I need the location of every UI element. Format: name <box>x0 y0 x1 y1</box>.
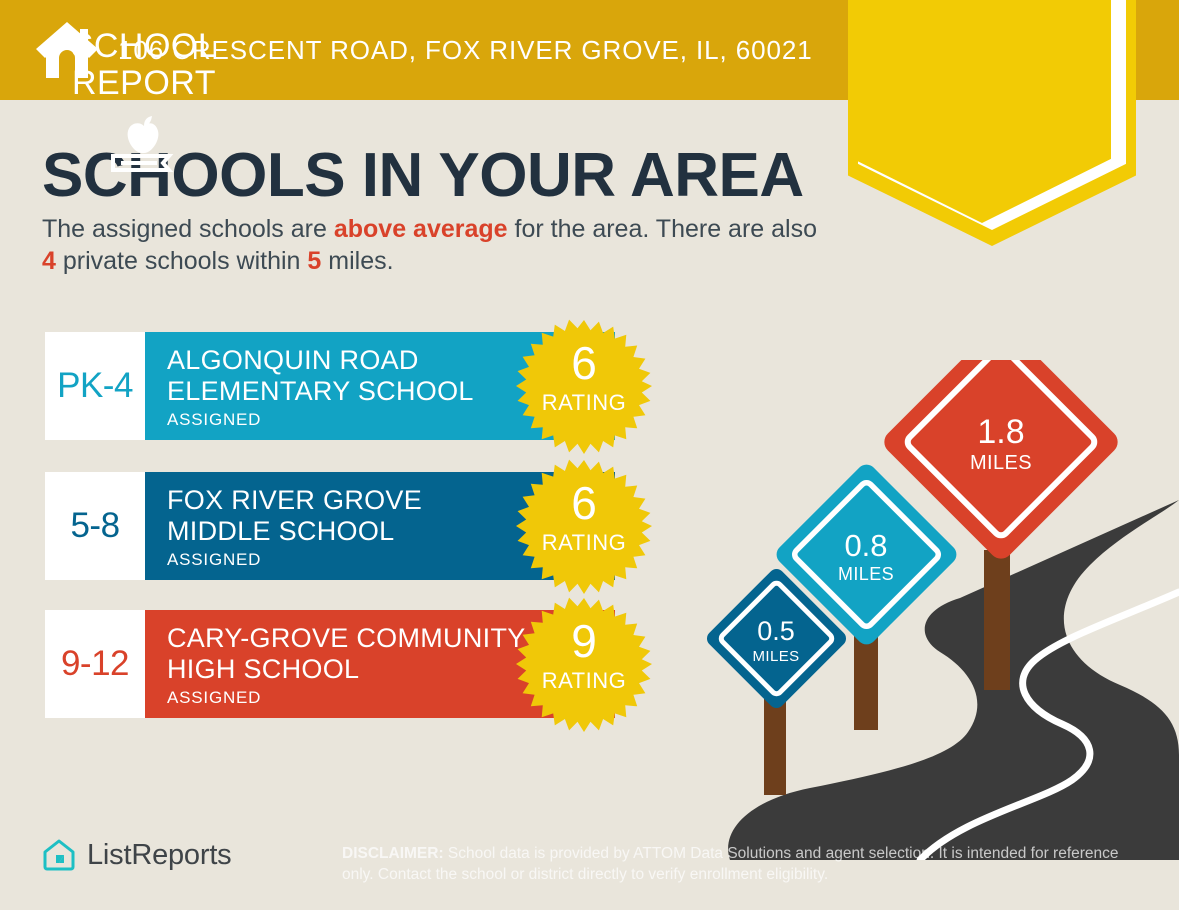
page-subtitle: The assigned schools are above average f… <box>42 213 832 277</box>
apple-on-book-icon <box>0 108 288 189</box>
distance-value: 1.8 <box>931 415 1071 449</box>
grade-range-box: 9-12 <box>45 610 145 718</box>
distance-sign-label: 1.8 MILES <box>931 415 1071 473</box>
rating-badge: 9 RATING <box>516 596 652 732</box>
subtitle-text-2: for the area. There are also <box>508 215 817 243</box>
grade-range-label: 5-8 <box>70 506 119 546</box>
rating-value: 6 <box>516 480 652 526</box>
subtitle-highlight-rating: above average <box>334 215 508 243</box>
grade-range-label: 9-12 <box>61 644 129 684</box>
rating-caption: RATING <box>516 668 652 694</box>
subtitle-highlight-private-count: 4 <box>42 247 56 275</box>
school-report-badge <box>848 0 1136 246</box>
subtitle-text-1: The assigned schools are <box>42 215 334 243</box>
subtitle-text-4: miles. <box>321 247 393 275</box>
rating-value: 6 <box>516 340 652 386</box>
distance-unit: MILES <box>726 649 826 664</box>
disclaimer-label: DISCLAIMER: <box>342 845 444 862</box>
road-illustration: 1.8 MILES 0.8 MILES 0.5 MILES <box>690 360 1179 860</box>
distance-value: 0.5 <box>726 618 826 645</box>
distance-unit: MILES <box>806 565 926 583</box>
rating-badge: 6 RATING <box>516 458 652 594</box>
distance-sign-label: 0.5 MILES <box>726 618 826 664</box>
grade-range-label: PK-4 <box>57 366 133 406</box>
badge-label: SCHOOL REPORT <box>0 28 288 102</box>
listreports-wordmark: ListReports <box>87 839 231 872</box>
badge-label-line2: REPORT <box>0 65 288 102</box>
school-report-infographic: 106 CRESCENT ROAD, FOX RIVER GROVE, IL, … <box>0 0 1179 910</box>
rating-badge: 6 RATING <box>516 318 652 454</box>
grade-range-box: PK-4 <box>45 332 145 440</box>
rating-value: 9 <box>516 618 652 664</box>
disclaimer-body: School data is provided by ATTOM Data So… <box>342 845 1119 883</box>
rating-caption: RATING <box>516 390 652 416</box>
rating-caption: RATING <box>516 530 652 556</box>
distance-sign-label: 0.8 MILES <box>806 530 926 583</box>
subtitle-text-3: private schools within <box>56 247 308 275</box>
listreports-house-icon <box>42 838 76 872</box>
listreports-logo[interactable]: ListReports <box>42 838 231 872</box>
distance-unit: MILES <box>931 453 1071 473</box>
grade-range-box: 5-8 <box>45 472 145 580</box>
badge-label-line1: SCHOOL <box>0 28 288 65</box>
distance-value: 0.8 <box>806 530 926 561</box>
sign-post <box>984 550 1010 690</box>
subtitle-highlight-radius: 5 <box>307 247 321 275</box>
disclaimer-text: DISCLAIMER: School data is provided by A… <box>342 843 1142 885</box>
